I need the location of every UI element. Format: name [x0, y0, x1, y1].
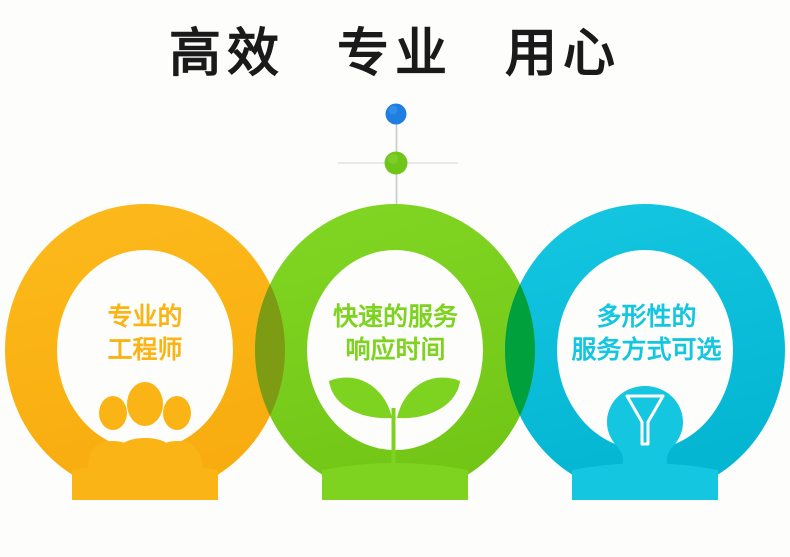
circle-response-label: 快速的服务 响应时间 — [288, 300, 503, 366]
circle-response-line-2: 响应时间 — [288, 333, 503, 366]
circle-flexible-line-1: 多形性的 — [524, 300, 769, 333]
circle-flexible-label: 多形性的 服务方式可选 — [524, 300, 769, 366]
venn-rings — [0, 0, 790, 557]
circle-engineers-label: 专业的 工程师 — [45, 300, 245, 366]
circle-engineers-line-1: 专业的 — [45, 300, 245, 333]
circle-flexible-line-2: 服务方式可选 — [524, 333, 769, 366]
circle-response-line-1: 快速的服务 — [288, 300, 503, 333]
infographic-canvas: 高效专业用心 — [0, 0, 790, 557]
circle-engineers-line-2: 工程师 — [45, 333, 245, 366]
